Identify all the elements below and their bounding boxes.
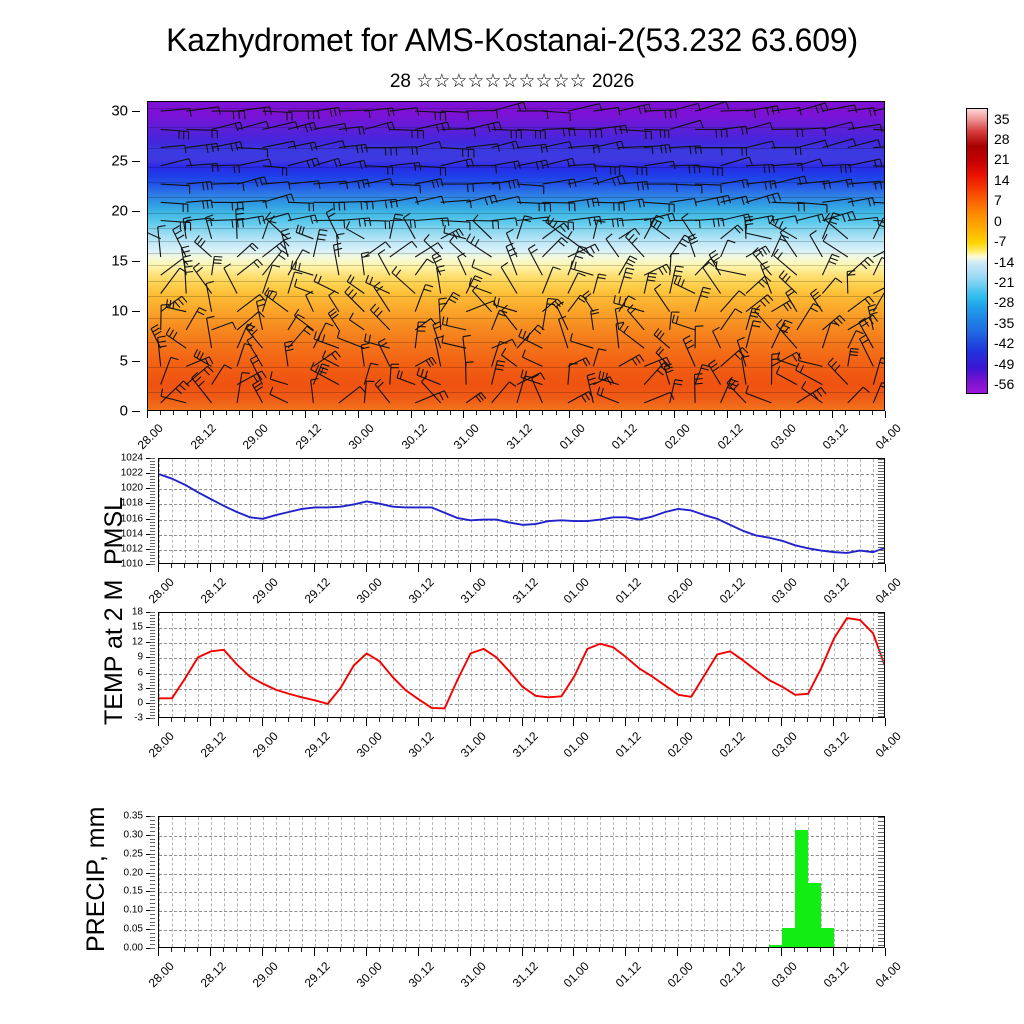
wind-barb <box>619 296 636 312</box>
y-major-tick <box>132 261 140 262</box>
wind-barb <box>695 129 727 137</box>
x-minor-tick <box>755 948 756 952</box>
y-minor-tick-right <box>878 477 884 478</box>
colorbar-tick-label: 28 <box>994 131 1010 147</box>
wind-barb <box>568 145 600 153</box>
x-minor-tick <box>529 411 530 415</box>
page-subtitle: 28 ☆☆☆☆☆☆☆☆☆☆ 2026 <box>0 70 1024 93</box>
x-minor-tick <box>496 718 497 722</box>
x-minor-tick <box>184 718 185 722</box>
x-tick-label: 04.00 <box>845 959 904 1018</box>
x-minor-tick <box>740 411 741 415</box>
y-minor-tick <box>150 679 155 680</box>
y-minor-tick <box>150 618 155 619</box>
y-minor-tick-right <box>878 526 884 527</box>
x-major-tick <box>677 564 678 572</box>
wind-barb <box>433 322 442 349</box>
x-major-tick <box>366 564 367 572</box>
y-minor-tick-right <box>878 664 884 665</box>
wind-barb <box>779 271 797 294</box>
wind-barb <box>654 328 670 348</box>
subtitle-month-glyphs: ☆☆☆☆☆☆☆☆☆☆ <box>416 71 586 92</box>
x-minor-tick <box>249 718 250 722</box>
wind-barb <box>593 107 620 115</box>
wind-barb <box>746 165 774 173</box>
wind-barb <box>265 288 288 312</box>
y-tick-label: 1016 <box>121 513 143 524</box>
y-minor-tick <box>150 516 155 517</box>
wind-barb <box>492 382 516 403</box>
wind-barb <box>772 320 793 348</box>
wind-barb <box>441 148 474 158</box>
y-minor-tick-right <box>878 486 884 487</box>
wind-barb <box>237 243 258 257</box>
x-major-tick <box>727 411 728 418</box>
x-major-tick <box>158 564 159 572</box>
y-minor-tick-right <box>878 832 884 833</box>
x-minor-tick <box>872 411 873 415</box>
wind-barb <box>404 213 416 239</box>
wind-barb <box>466 122 501 132</box>
x-major-tick <box>210 564 211 572</box>
y-tick-label: 1022 <box>121 468 143 479</box>
y-tick-label: 0.30 <box>124 829 143 840</box>
wind-barb <box>517 111 548 119</box>
wind-barb <box>313 351 340 366</box>
wind-barb <box>616 322 624 348</box>
y-tick-label: 9 <box>137 652 143 663</box>
wind-barb <box>593 219 623 228</box>
y-minor-tick <box>150 564 155 565</box>
x-minor-tick <box>332 411 333 415</box>
wind-barb <box>873 146 884 155</box>
wind-barb <box>186 143 218 152</box>
wind-barb <box>860 335 874 367</box>
x-minor-tick <box>340 948 341 952</box>
y-minor-tick-right <box>878 692 884 693</box>
x-minor-tick <box>820 564 821 568</box>
wind-barb <box>746 295 773 312</box>
y-tick-label: 30 <box>111 103 128 120</box>
y-tick-label: 6 <box>137 667 143 678</box>
x-major-tick <box>418 564 419 572</box>
wind-barb <box>392 266 415 293</box>
y-minor-tick-right <box>878 616 884 617</box>
colorbar-tick-label: 0 <box>994 213 1002 229</box>
wind-barb <box>619 129 652 139</box>
series-polyline <box>159 613 884 717</box>
x-minor-tick <box>392 564 393 568</box>
y-tick-label: 15 <box>111 253 128 270</box>
y-minor-tick <box>150 639 155 640</box>
y-minor-tick-right <box>878 523 884 524</box>
wind-barb <box>848 218 879 226</box>
x-minor-tick <box>547 564 548 568</box>
x-minor-tick <box>794 718 795 722</box>
x-minor-tick <box>437 411 438 415</box>
y-minor-tick-right <box>878 556 884 557</box>
x-minor-tick <box>768 948 769 952</box>
x-minor-tick <box>160 411 161 415</box>
wind-barb <box>364 148 396 156</box>
y-minor-tick-right <box>878 619 884 620</box>
x-minor-tick <box>846 564 847 568</box>
y-minor-tick <box>150 651 155 652</box>
wind-barb <box>186 129 217 138</box>
wind-barb <box>374 282 390 312</box>
wind-barb <box>161 184 190 194</box>
y-minor-tick-right <box>878 459 884 460</box>
wind-barb <box>441 200 472 208</box>
y-minor-tick <box>150 525 155 526</box>
wind-barb <box>695 148 722 156</box>
y-minor-tick-right <box>878 851 884 852</box>
y-minor-tick-right <box>878 889 884 890</box>
x-minor-tick <box>638 564 639 568</box>
x-tick-label: 29.00 <box>221 729 280 788</box>
wind-barb <box>346 221 364 238</box>
y-tick-label: 0.05 <box>124 924 143 935</box>
y-minor-tick-right <box>878 655 884 656</box>
x-tick-label: 02.12 <box>689 959 748 1018</box>
wind-barb <box>415 196 444 204</box>
grid-line-horizontal <box>159 892 884 893</box>
y-minor-tick-right <box>878 520 884 521</box>
wind-barb <box>746 181 776 190</box>
x-minor-tick <box>651 718 652 722</box>
x-major-tick <box>522 948 523 956</box>
y-tick-label: 0.10 <box>124 905 143 916</box>
wind-barb <box>195 235 212 257</box>
y-minor-tick <box>150 615 155 616</box>
y-minor-tick-right <box>878 821 884 822</box>
x-minor-tick <box>703 564 704 568</box>
wind-barb <box>212 183 244 191</box>
wind-barb <box>873 358 884 385</box>
y-minor-tick <box>150 464 155 465</box>
x-major-tick <box>780 411 781 418</box>
wind-barb <box>570 333 593 348</box>
y-minor-tick-right <box>878 652 884 653</box>
wind-barb <box>721 110 756 118</box>
y-tick-label: 1014 <box>121 528 143 539</box>
y-minor-tick <box>150 697 155 698</box>
x-tick-label: 02.12 <box>689 729 748 788</box>
wind-barb <box>237 295 265 312</box>
wind-barb <box>212 111 245 119</box>
x-minor-tick <box>701 411 702 415</box>
x-minor-tick <box>197 718 198 722</box>
wind-barb <box>619 182 649 191</box>
wind-barb <box>644 392 674 403</box>
y-minor-tick <box>150 630 155 631</box>
wind-barb <box>339 160 366 169</box>
wind-barb <box>772 216 798 224</box>
y-minor-tick <box>150 854 155 855</box>
wind-barb <box>161 357 179 384</box>
wind-barb <box>224 264 237 294</box>
y-minor-tick-right <box>878 874 884 875</box>
precip-bar <box>808 883 821 947</box>
x-minor-tick <box>301 948 302 952</box>
x-tick-label: 31.00 <box>429 729 488 788</box>
wind-barb <box>237 259 263 275</box>
wind-barb <box>313 364 329 385</box>
y-minor-tick <box>150 624 155 625</box>
x-minor-tick <box>703 948 704 952</box>
y-minor-tick-right <box>878 828 884 829</box>
x-minor-tick <box>742 948 743 952</box>
y-minor-tick-right <box>878 836 884 837</box>
x-minor-tick <box>327 564 328 568</box>
y-minor-tick <box>150 709 155 710</box>
x-minor-tick <box>171 718 172 722</box>
wind-barb <box>506 243 517 275</box>
x-minor-tick <box>753 411 754 415</box>
x-minor-tick <box>638 718 639 722</box>
wind-barb <box>542 111 570 121</box>
y-minor-tick <box>150 479 155 480</box>
x-tick-label: 02.00 <box>637 959 696 1018</box>
wind-barb <box>161 129 189 139</box>
x-minor-tick <box>301 564 302 568</box>
x-major-tick <box>573 718 574 726</box>
colorbar-tick-labels: 3528211470-7-14-21-28-35-42-49-56 <box>992 108 1024 394</box>
y-minor-tick-right <box>878 825 884 826</box>
y-minor-tick-right <box>878 643 884 644</box>
wind-barb <box>444 225 466 239</box>
x-minor-tick <box>223 564 224 568</box>
wind-barb <box>288 181 320 189</box>
y-minor-tick <box>150 519 155 520</box>
x-major-tick <box>573 564 574 572</box>
x-minor-tick <box>664 718 665 722</box>
y-minor-tick-right <box>878 896 884 897</box>
wind-barb <box>472 259 492 275</box>
wind-barb <box>674 276 695 294</box>
y-minor-tick-right <box>878 480 884 481</box>
grid-line-horizontal <box>159 855 884 856</box>
y-minor-tick <box>150 660 155 661</box>
x-major-tick <box>418 948 419 956</box>
x-minor-tick <box>490 411 491 415</box>
wind-barb <box>703 263 721 294</box>
wind-barb <box>709 360 721 385</box>
x-minor-tick <box>595 411 596 415</box>
y-minor-tick-right <box>878 495 884 496</box>
precip-panel[interactable] <box>158 816 885 948</box>
y-tick-label: 0.20 <box>124 867 143 878</box>
x-minor-tick <box>664 564 665 568</box>
wind-barb <box>721 180 749 189</box>
y-major-tick <box>132 361 140 362</box>
temp2m-plot-area <box>159 613 884 717</box>
y-minor-tick <box>150 513 155 514</box>
y-minor-tick-right <box>878 877 884 878</box>
wind-barb <box>314 274 339 294</box>
wind-barb <box>441 128 475 136</box>
x-minor-tick <box>690 718 691 722</box>
wind-barb <box>492 129 522 138</box>
y-minor-tick-right <box>878 640 884 641</box>
wind-barb <box>721 148 747 156</box>
wind-barb-field <box>148 102 884 410</box>
y-major-tick <box>132 161 140 162</box>
y-minor-tick <box>150 907 155 908</box>
y-minor-tick <box>150 657 155 658</box>
y-minor-tick <box>150 929 155 930</box>
pmsl-panel[interactable] <box>158 458 885 564</box>
y-minor-tick-right <box>878 945 884 946</box>
y-minor-tick-right <box>878 498 884 499</box>
y-minor-tick-right <box>878 668 884 669</box>
wind-barb <box>802 381 823 403</box>
y-minor-tick <box>150 485 155 486</box>
wind-barb <box>746 321 761 348</box>
y-tick-label: 25 <box>111 153 128 170</box>
wind-barb <box>848 331 864 349</box>
y-minor-tick <box>150 903 155 904</box>
y-minor-tick-right <box>878 855 884 856</box>
x-minor-tick <box>340 718 341 722</box>
wind-barb <box>466 144 499 152</box>
y-minor-tick <box>150 876 155 877</box>
x-major-tick <box>729 948 730 956</box>
wind-barb <box>270 387 288 403</box>
temp2m-panel[interactable] <box>158 612 885 718</box>
wind-barb <box>349 313 364 330</box>
y-minor-tick-right <box>878 870 884 871</box>
colorbar-tick-label: 35 <box>994 111 1010 127</box>
x-minor-tick <box>236 718 237 722</box>
wind-barb <box>263 240 290 257</box>
y-minor-tick <box>150 663 155 664</box>
wind-barb <box>626 231 645 257</box>
y-minor-tick <box>150 549 155 550</box>
wind-barb <box>237 121 269 129</box>
upper-air-cross-section-panel[interactable] <box>147 101 885 411</box>
y-minor-tick-right <box>878 559 884 560</box>
y-minor-tick-right <box>878 881 884 882</box>
precip-x-axis: 28.0028.1229.0029.1230.0030.1231.0031.12… <box>158 948 885 992</box>
y-minor-tick-right <box>878 637 884 638</box>
x-minor-tick <box>807 718 808 722</box>
y-tick-label: 0.15 <box>124 886 143 897</box>
wind-barb <box>591 309 599 330</box>
wind-barb <box>670 380 683 403</box>
x-minor-tick <box>859 411 860 415</box>
wind-barb <box>746 386 772 403</box>
x-minor-tick <box>171 948 172 952</box>
precip-y-axis: 0.000.050.100.150.200.250.300.35 <box>100 816 155 948</box>
y-minor-tick <box>150 712 155 713</box>
x-minor-tick <box>353 718 354 722</box>
series-polyline <box>159 459 884 563</box>
x-tick-label: 28.00 <box>118 959 177 1018</box>
x-major-tick <box>833 948 834 956</box>
y-minor-tick-right <box>878 541 884 542</box>
y-minor-tick <box>150 543 155 544</box>
y-minor-tick <box>150 558 155 559</box>
wind-barb <box>583 291 594 312</box>
wind-barb <box>194 349 212 366</box>
x-minor-tick <box>742 564 743 568</box>
y-minor-tick-right <box>878 911 884 912</box>
wind-barb <box>873 166 884 175</box>
y-minor-tick <box>150 461 155 462</box>
y-tick-label: 12 <box>132 637 143 648</box>
y-minor-tick <box>150 899 155 900</box>
wind-barb <box>345 286 365 312</box>
x-major-tick <box>885 948 886 956</box>
x-minor-tick <box>173 411 174 415</box>
grid-line-horizontal <box>159 874 884 875</box>
wind-barb <box>466 110 497 118</box>
wind-barb <box>873 281 884 294</box>
wind-barb <box>166 328 186 349</box>
y-minor-tick <box>150 642 155 643</box>
y-tick-label: 15 <box>132 622 143 633</box>
y-minor-tick-right <box>878 689 884 690</box>
y-minor-tick-right <box>878 658 884 659</box>
x-minor-tick <box>586 718 587 722</box>
wind-barb <box>873 202 884 212</box>
wind-barb <box>212 165 240 173</box>
x-minor-tick <box>872 718 873 722</box>
wind-barb <box>473 215 492 239</box>
y-minor-tick <box>150 691 155 692</box>
y-minor-tick <box>150 470 155 471</box>
wind-barb <box>378 339 390 367</box>
x-minor-tick <box>483 564 484 568</box>
wind-barb <box>774 249 797 275</box>
y-minor-tick <box>150 816 155 817</box>
wind-barb <box>364 199 397 208</box>
y-minor-tick-right <box>878 704 884 705</box>
y-minor-tick-right <box>878 904 884 905</box>
x-major-tick <box>833 718 834 726</box>
x-minor-tick <box>612 948 613 952</box>
wind-barb <box>466 276 482 294</box>
wind-barb <box>502 348 518 366</box>
wind-barb <box>772 129 803 137</box>
grid-line-horizontal <box>159 836 884 837</box>
x-minor-tick <box>794 948 795 952</box>
wind-barb <box>237 148 268 158</box>
wind-barb <box>822 122 854 130</box>
y-minor-tick <box>150 873 155 874</box>
wind-barb <box>772 147 802 155</box>
y-minor-tick <box>150 895 155 896</box>
wind-barb <box>619 355 644 367</box>
wind-barb <box>337 330 364 348</box>
wind-barb <box>390 147 418 155</box>
wind-barb <box>695 102 729 111</box>
x-minor-tick <box>664 948 665 952</box>
y-minor-tick-right <box>878 507 884 508</box>
x-minor-tick <box>379 718 380 722</box>
cross-section-plot-area <box>148 102 884 410</box>
x-minor-tick <box>859 564 860 568</box>
colorbar-tick-label: -14 <box>994 254 1014 270</box>
wind-barb <box>517 325 544 348</box>
wind-barb <box>415 285 433 312</box>
page-title-text: Kazhydromet for AMS-Kostanai-2(53.232 63… <box>166 22 858 58</box>
y-minor-tick <box>150 648 155 649</box>
wind-barb <box>822 315 845 330</box>
x-minor-tick <box>542 411 543 415</box>
wind-barb <box>441 292 461 311</box>
